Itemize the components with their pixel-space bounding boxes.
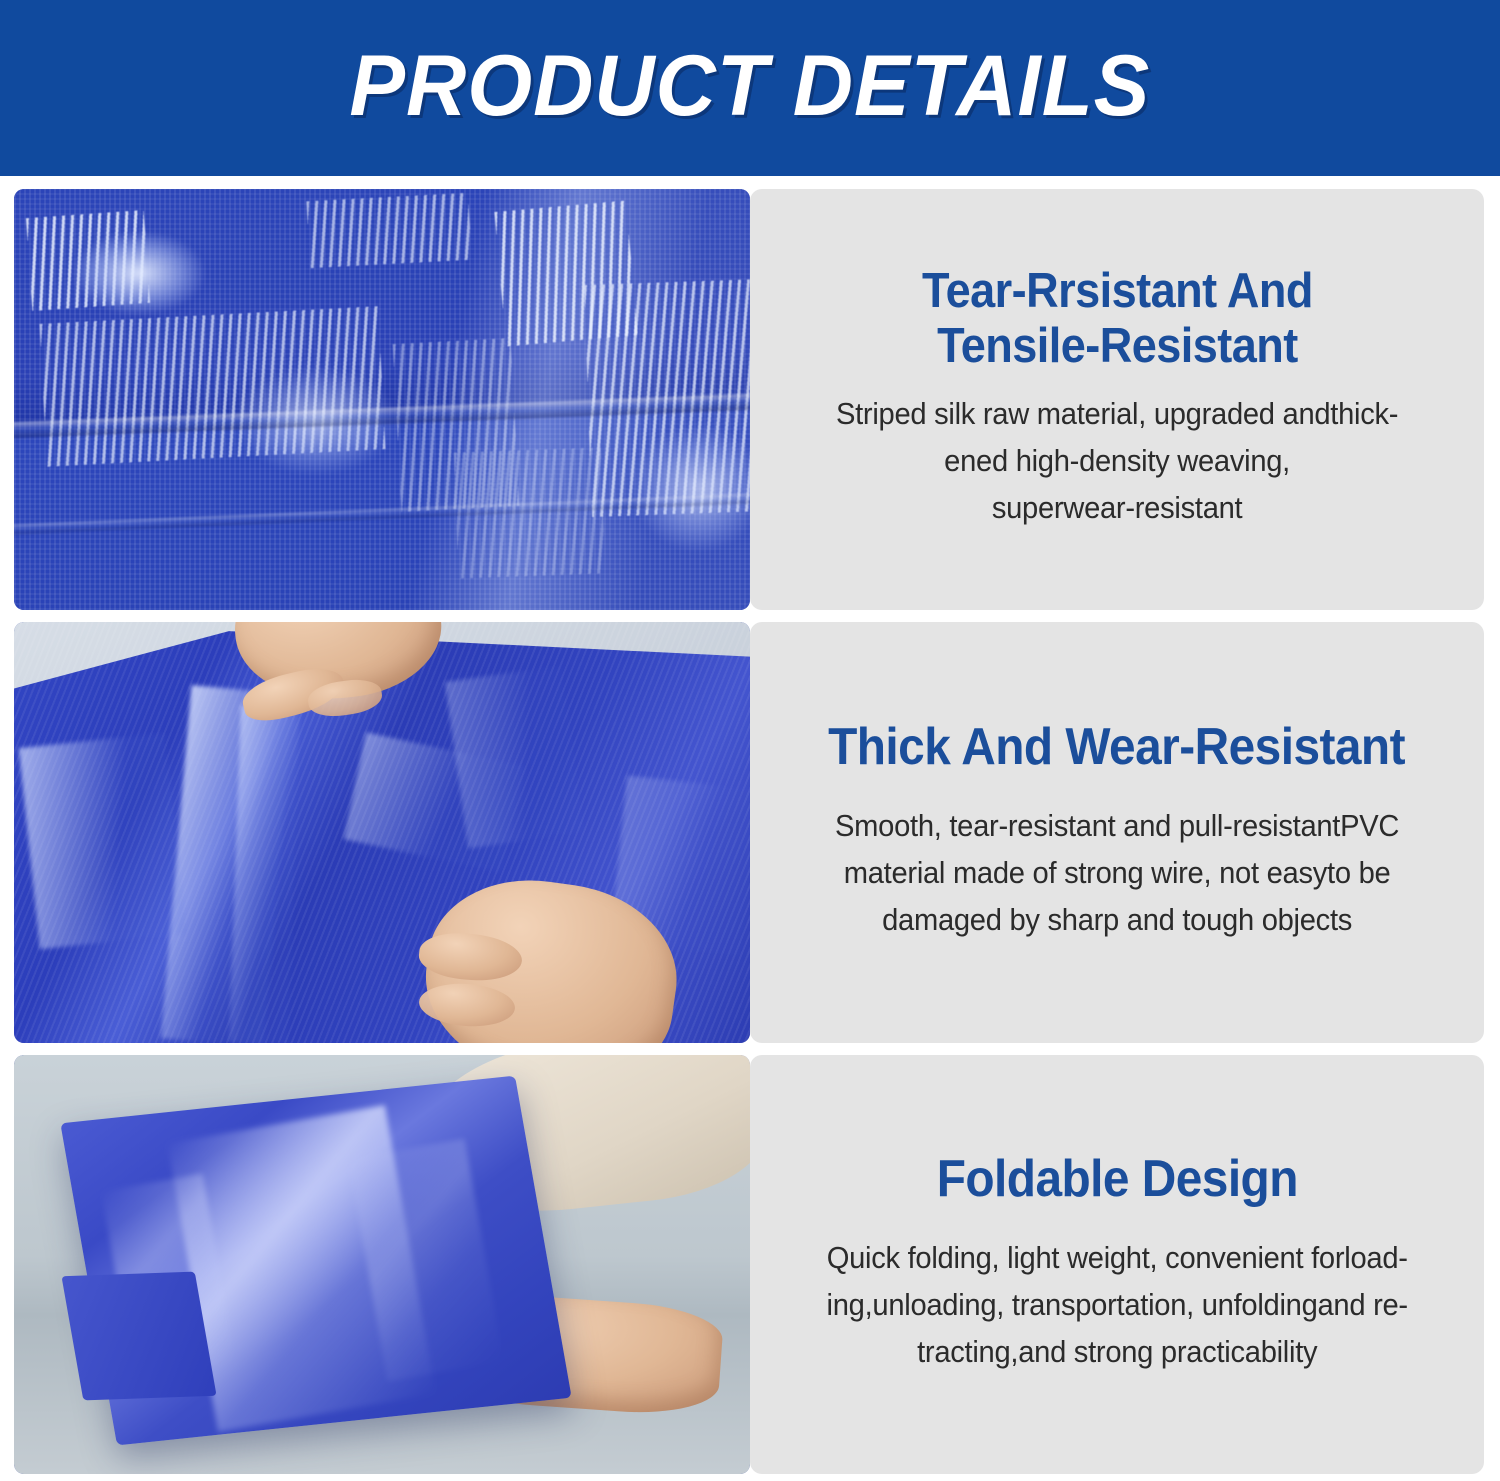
feature-rows: Tear-Rrsistant And Tensile-Resistant Str… bbox=[0, 189, 1500, 1474]
feature-photo-thick-wear-resistant bbox=[14, 622, 750, 1043]
page-header-banner: PRODUCT DETAILS bbox=[0, 0, 1500, 176]
feature-text-card-tear-resistant: Tear-Rrsistant And Tensile-Resistant Str… bbox=[750, 189, 1484, 610]
fabric-fold-highlight bbox=[229, 705, 300, 1043]
gloss-highlight bbox=[632, 425, 750, 551]
page-title: PRODUCT DETAILS bbox=[350, 43, 1151, 133]
feature-description: Smooth, tear-resistant and pull-resistan… bbox=[835, 802, 1399, 943]
feature-heading: Foldable Design bbox=[936, 1150, 1297, 1208]
feature-heading: Tear-Rrsistant And Tensile-Resistant bbox=[922, 264, 1313, 374]
feature-row-tear-resistant: Tear-Rrsistant And Tensile-Resistant Str… bbox=[0, 189, 1500, 610]
feature-text-card-foldable-design: Foldable Design Quick folding, light wei… bbox=[750, 1055, 1484, 1474]
feature-photo-foldable-design bbox=[14, 1055, 750, 1474]
feature-row-foldable-design: Foldable Design Quick folding, light wei… bbox=[0, 1055, 1500, 1474]
feature-heading: Thick And Wear-Resistant bbox=[829, 718, 1406, 776]
feature-photo-tear-resistant bbox=[14, 189, 750, 610]
product-details-page: PRODUCT DETAILS Tear-R bbox=[0, 0, 1500, 1481]
feature-description: Striped silk raw material, upgraded andt… bbox=[836, 390, 1398, 531]
feature-description: Quick folding, light weight, convenient … bbox=[826, 1234, 1407, 1375]
feature-row-thick-wear-resistant: Thick And Wear-Resistant Smooth, tear-re… bbox=[0, 622, 1500, 1043]
feature-text-card-thick-wear-resistant: Thick And Wear-Resistant Smooth, tear-re… bbox=[750, 622, 1484, 1043]
bundle-corner-flap bbox=[61, 1271, 217, 1399]
gloss-highlight bbox=[73, 231, 205, 315]
fabric-fold-highlight bbox=[444, 665, 584, 848]
fabric-highlight-streak bbox=[307, 193, 472, 269]
fabric-fold-highlight bbox=[19, 733, 187, 949]
